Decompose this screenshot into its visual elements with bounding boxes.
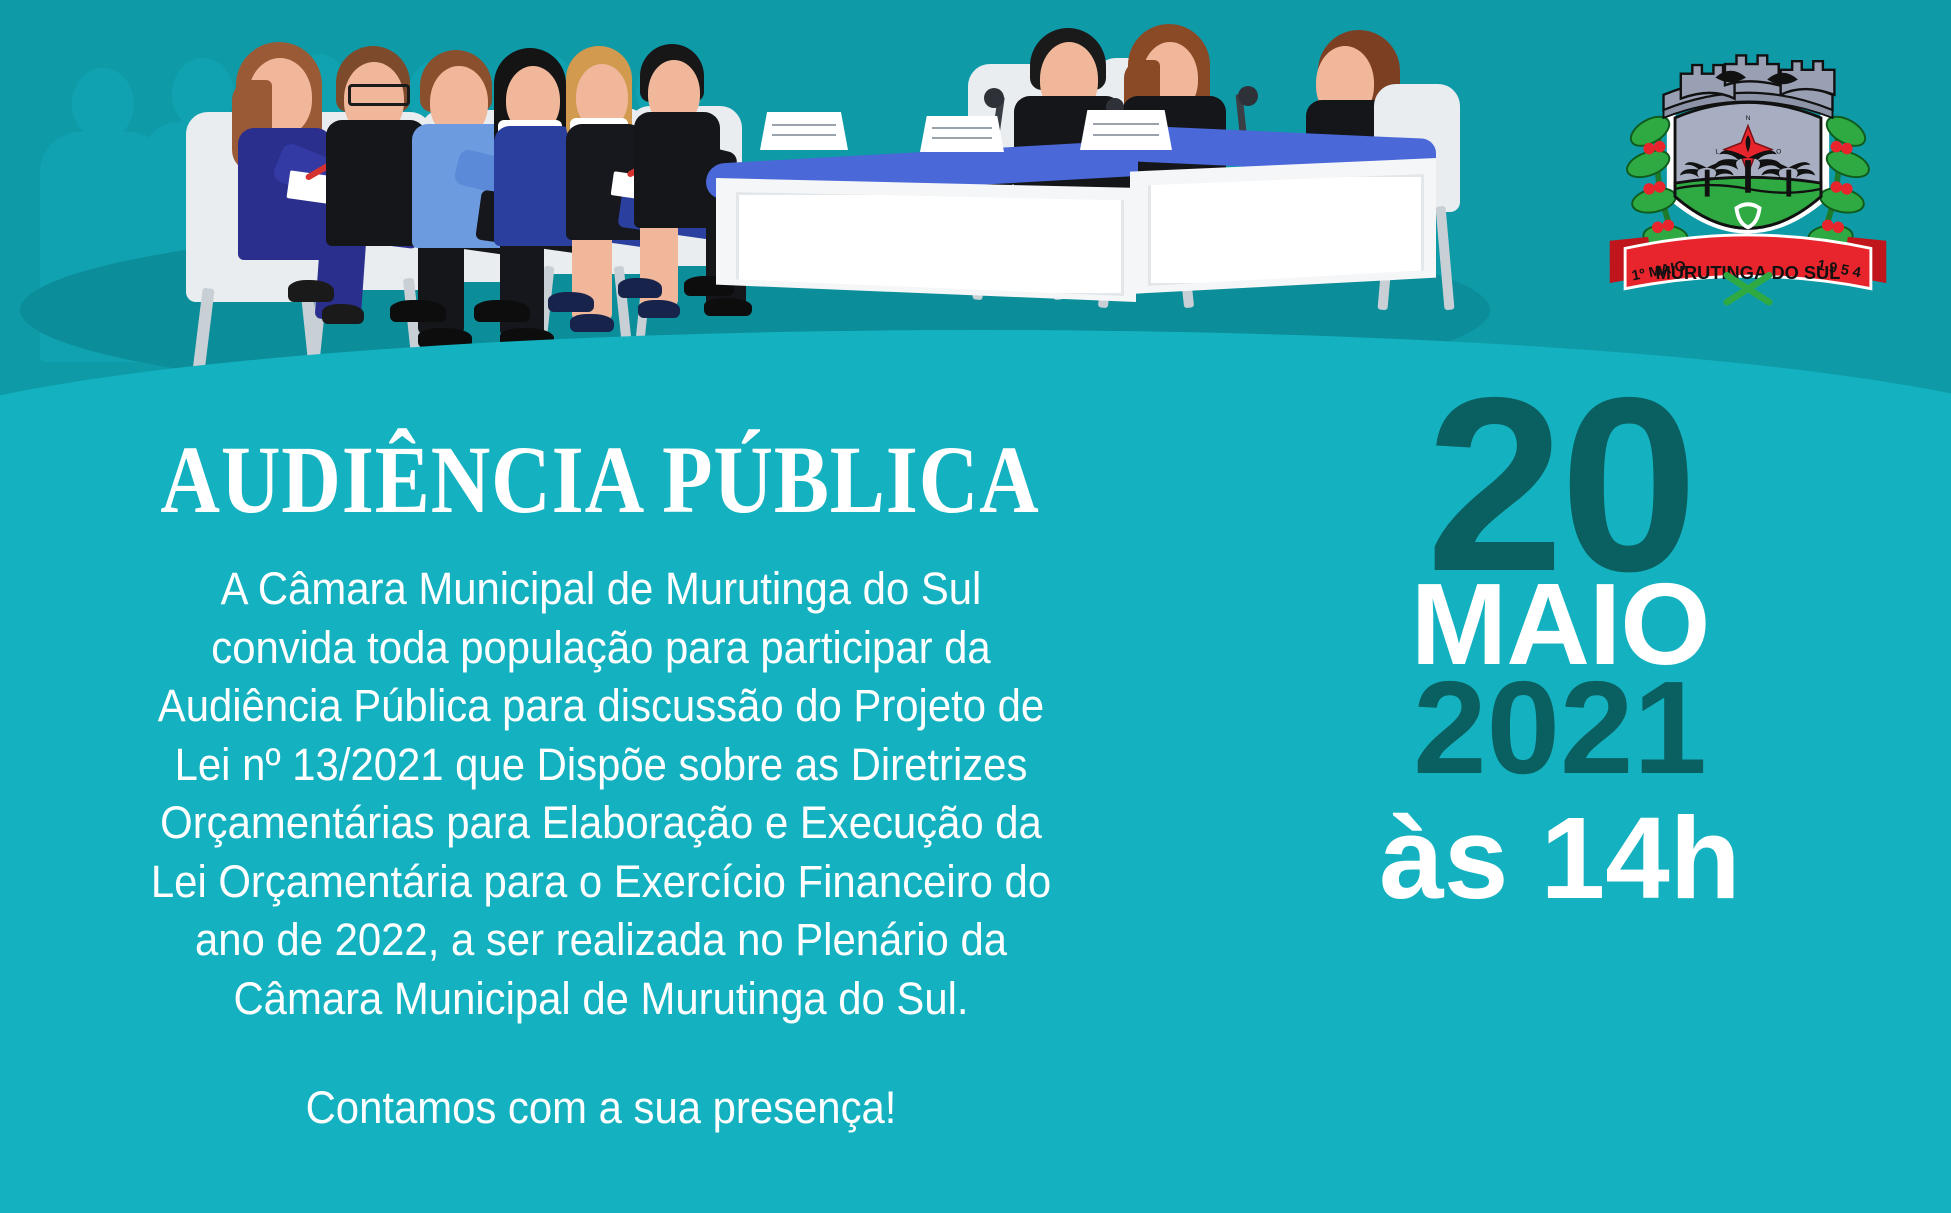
poster-root: N L O S: [0, 0, 1951, 1213]
shield: N L O S: [1675, 102, 1821, 228]
body-line: ano de 2022, a ser realizada no Plenário…: [122, 911, 1080, 970]
closing-line: Contamos com a sua presença!: [122, 1082, 1080, 1134]
body-line: Orçamentárias para Elaboração e Execução…: [122, 794, 1080, 853]
body-line: convida toda população para participar d…: [122, 619, 1080, 678]
svg-text:N: N: [1746, 115, 1751, 122]
nameplate-1: [760, 112, 848, 150]
date-block: 20 MAIO 2021 às 14h: [1190, 370, 1930, 1110]
page-title: AUDIÊNCIA PÚBLICA: [84, 430, 1116, 531]
body-line: Lei nº 13/2021 que Dispõe sobre as Diret…: [122, 736, 1080, 795]
body-line: Audiência Pública para discussão do Proj…: [122, 677, 1080, 736]
panel-table-inner-panel-right: [1148, 174, 1424, 286]
date-year: 2021: [1190, 662, 1930, 794]
ribbon: MURUTINGA DO SUL 1º MAIO 1 9 5 4: [1610, 235, 1886, 289]
nameplate-3: [920, 116, 1004, 152]
coat-of-arms: N L O S: [1604, 18, 1892, 306]
body-line: Lei Orçamentária para o Exercício Financ…: [122, 853, 1080, 912]
coat-of-arms-icon: N L O S: [1604, 18, 1892, 306]
panel-table-inner-panel: [736, 192, 1124, 296]
date-time: às 14h: [1190, 800, 1930, 916]
body-line: A Câmara Municipal de Murutinga do Sul: [122, 560, 1080, 619]
body-line: Câmara Municipal de Murutinga do Sul.: [122, 970, 1080, 1029]
svg-text:O: O: [1776, 148, 1781, 155]
nameplate-2: [1080, 110, 1172, 150]
svg-text:L: L: [1715, 148, 1719, 155]
glasses-icon: [348, 84, 410, 106]
body-copy: A Câmara Municipal de Murutinga do Sul c…: [122, 560, 1080, 1028]
